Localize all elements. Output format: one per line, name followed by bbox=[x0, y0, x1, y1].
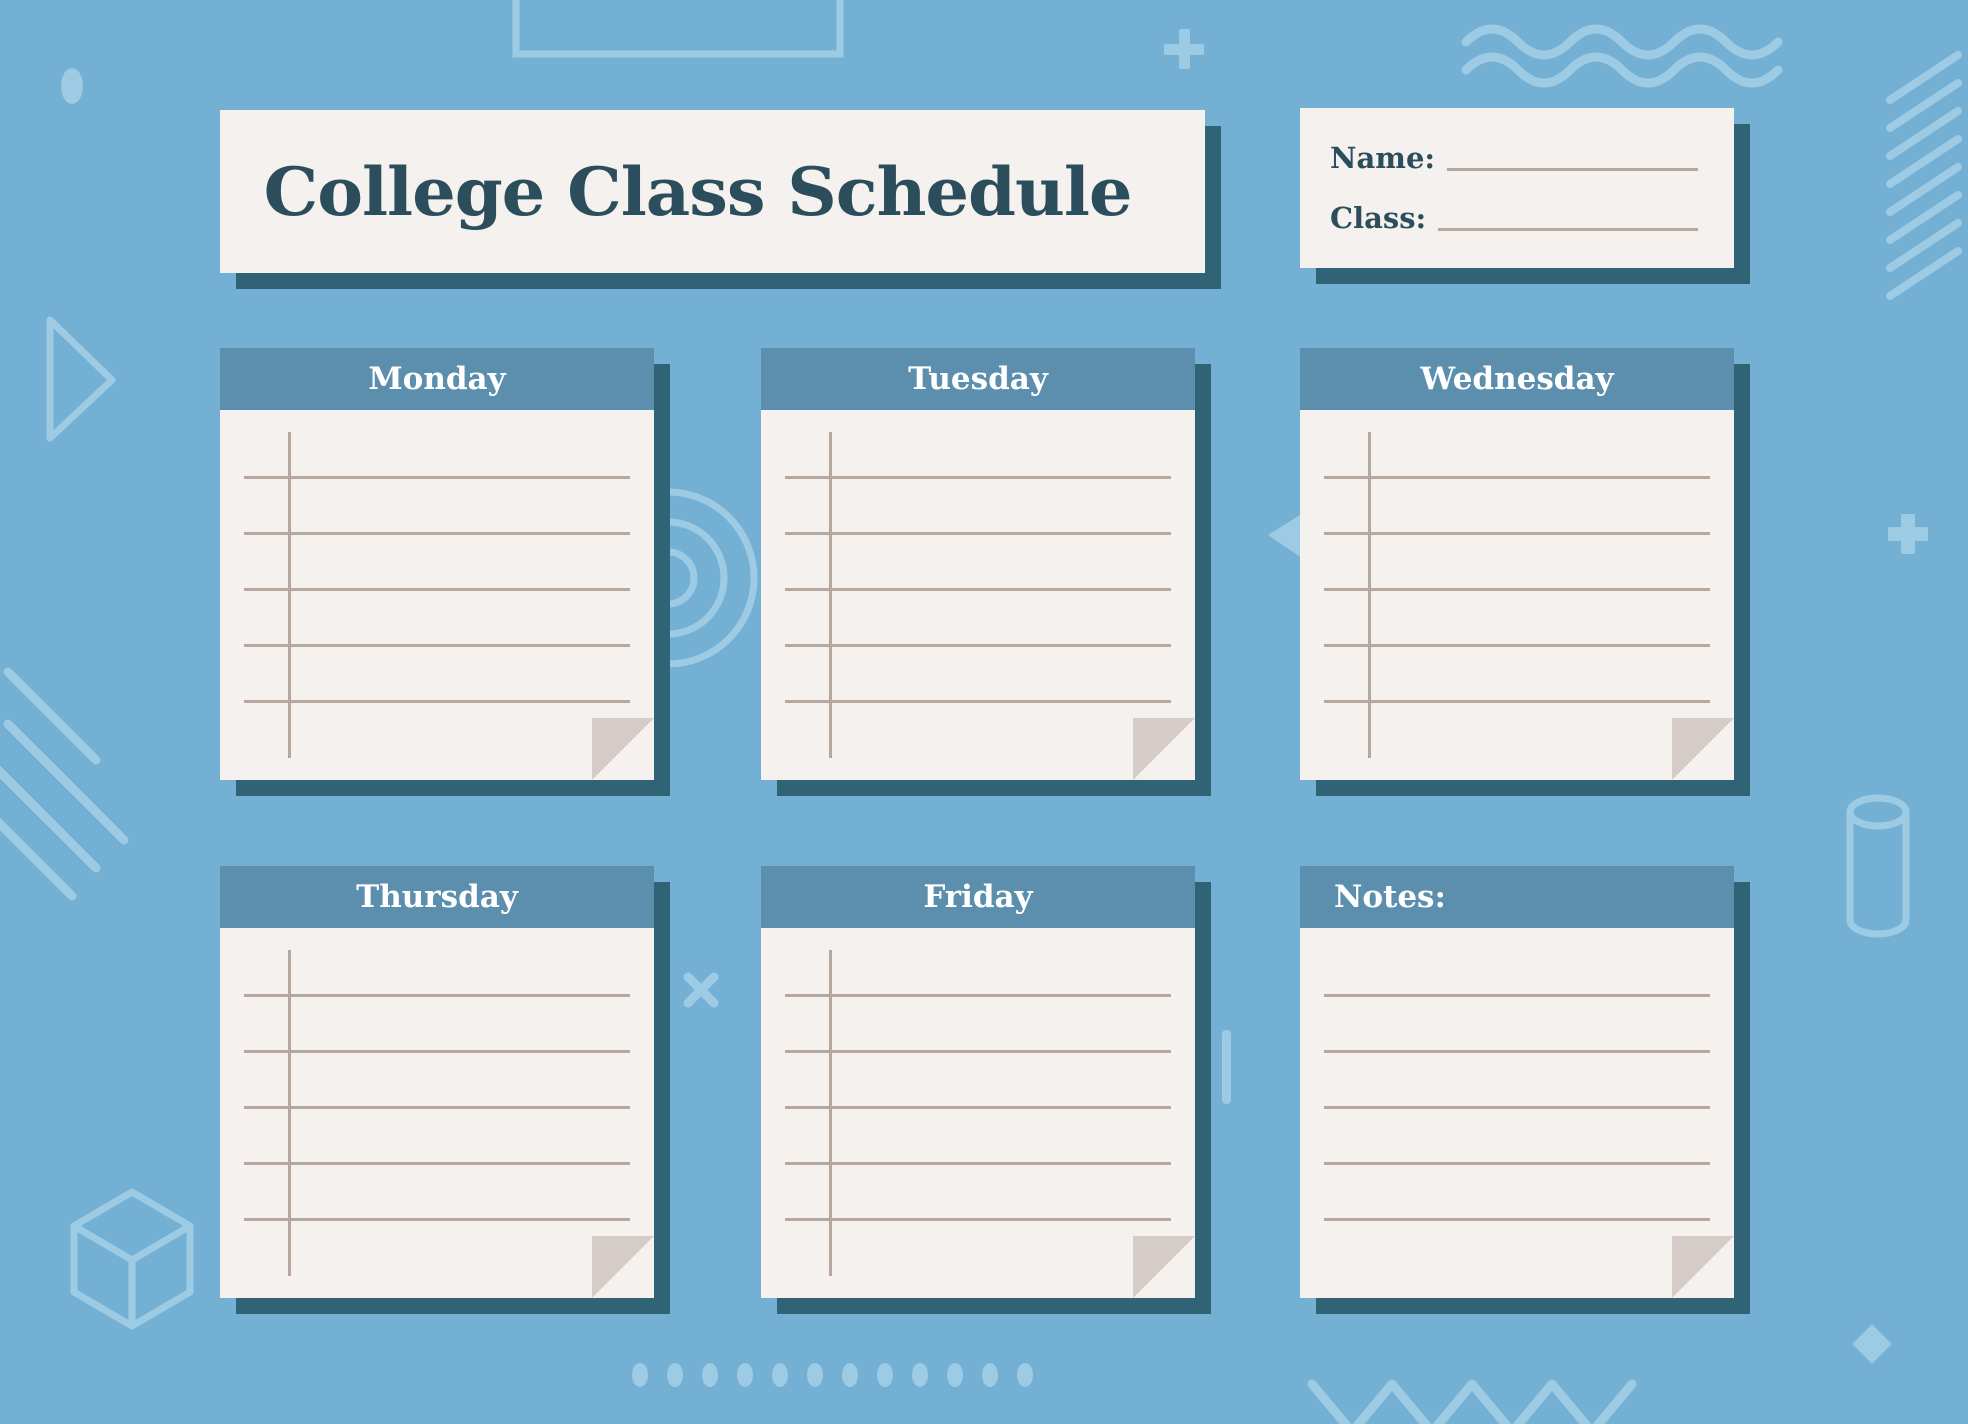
note-card-hline bbox=[1324, 1050, 1710, 1053]
note-card-hline bbox=[244, 1218, 630, 1221]
dot-grid-decoration bbox=[632, 1363, 1033, 1424]
dot-decoration bbox=[61, 68, 83, 104]
note-card-thursday: Thursday bbox=[220, 866, 654, 1298]
note-card-body[interactable] bbox=[220, 410, 654, 780]
name-field-rule[interactable] bbox=[1447, 168, 1698, 171]
note-card-hline bbox=[785, 1162, 1171, 1165]
rectangle-outline-decoration bbox=[516, 0, 840, 54]
note-card-tuesday: Tuesday bbox=[761, 348, 1195, 780]
note-card-hline bbox=[1324, 532, 1710, 535]
wavy-lines-decoration bbox=[1466, 29, 1778, 83]
note-card-hline bbox=[785, 588, 1171, 591]
note-card-hline bbox=[785, 700, 1171, 703]
note-card-rules bbox=[1300, 410, 1734, 780]
note-card-wednesday: Wednesday bbox=[1300, 348, 1734, 780]
note-card-body[interactable] bbox=[761, 928, 1195, 1298]
note-card-hline bbox=[244, 588, 630, 591]
note-card-vline bbox=[288, 432, 291, 758]
note-card-hline bbox=[785, 476, 1171, 479]
note-card-body[interactable] bbox=[761, 410, 1195, 780]
note-card-sheet: Tuesday bbox=[761, 348, 1195, 780]
note-card-title: Wednesday bbox=[1420, 361, 1613, 397]
note-card-rules bbox=[220, 928, 654, 1298]
triangle-outline-decoration bbox=[50, 320, 112, 438]
note-card-hline bbox=[1324, 588, 1710, 591]
note-card-hline bbox=[785, 1106, 1171, 1109]
note-card-hline bbox=[1324, 994, 1710, 997]
note-card-body[interactable] bbox=[1300, 928, 1734, 1298]
note-card-hline bbox=[244, 1106, 630, 1109]
diagonal-hatch-decoration bbox=[1890, 55, 1958, 296]
note-card-sheet: Friday bbox=[761, 866, 1195, 1298]
note-card-header: Tuesday bbox=[761, 348, 1195, 410]
page-title: College Class Schedule bbox=[220, 153, 1132, 231]
note-card-hline bbox=[1324, 1162, 1710, 1165]
note-card-rules bbox=[220, 410, 654, 780]
plus-decoration-right bbox=[1888, 514, 1928, 554]
note-card-header: Friday bbox=[761, 866, 1195, 928]
note-card-hline bbox=[244, 476, 630, 479]
note-card-hline bbox=[1324, 1106, 1710, 1109]
note-card-monday: Monday bbox=[220, 348, 654, 780]
class-field-rule[interactable] bbox=[1438, 228, 1698, 231]
note-card-hline bbox=[785, 1218, 1171, 1221]
note-card-notes: Notes: bbox=[1300, 866, 1734, 1298]
title-card-sheet: College Class Schedule bbox=[220, 110, 1205, 273]
note-card-title: Thursday bbox=[356, 879, 518, 915]
note-card-hline bbox=[1324, 644, 1710, 647]
name-field-label: Name: bbox=[1330, 141, 1435, 175]
note-card-body[interactable] bbox=[220, 928, 654, 1298]
note-card-hline bbox=[244, 700, 630, 703]
diagonal-stripes-decoration bbox=[0, 672, 124, 896]
note-card-header: Wednesday bbox=[1300, 348, 1734, 410]
info-card: Name: Class: bbox=[1300, 108, 1734, 268]
note-card-hline bbox=[1324, 1218, 1710, 1221]
note-card-header: Monday bbox=[220, 348, 654, 410]
note-card-header: Notes: bbox=[1300, 866, 1734, 928]
cube-wireframe-decoration bbox=[74, 1192, 190, 1326]
note-card-title: Friday bbox=[923, 879, 1032, 915]
note-card-friday: Friday bbox=[761, 866, 1195, 1298]
note-card-sheet: Wednesday bbox=[1300, 348, 1734, 780]
note-card-rules bbox=[761, 928, 1195, 1298]
note-card-hline bbox=[1324, 476, 1710, 479]
name-field-row[interactable]: Name: bbox=[1330, 141, 1698, 175]
note-card-title: Monday bbox=[368, 361, 505, 397]
class-field-label: Class: bbox=[1330, 201, 1426, 235]
note-card-hline bbox=[244, 532, 630, 535]
note-card-hline bbox=[244, 994, 630, 997]
note-card-rules bbox=[761, 410, 1195, 780]
vertical-bar-decoration bbox=[1222, 1030, 1231, 1104]
note-card-title: Notes: bbox=[1334, 879, 1446, 915]
cylinder-wireframe-decoration bbox=[1850, 798, 1906, 934]
note-card-title: Tuesday bbox=[908, 361, 1048, 397]
note-card-hline bbox=[244, 1162, 630, 1165]
note-card-vline bbox=[829, 950, 832, 1276]
note-card-vline bbox=[288, 950, 291, 1276]
note-card-hline bbox=[1324, 700, 1710, 703]
note-card-header: Thursday bbox=[220, 866, 654, 928]
concentric-arcs-decoration bbox=[668, 492, 754, 664]
note-card-hline bbox=[785, 532, 1171, 535]
class-field-row[interactable]: Class: bbox=[1330, 201, 1698, 235]
note-card-sheet: Notes: bbox=[1300, 866, 1734, 1298]
note-card-vline bbox=[829, 432, 832, 758]
note-card-sheet: Monday bbox=[220, 348, 654, 780]
plus-decoration-top bbox=[1164, 29, 1204, 69]
info-card-sheet: Name: Class: bbox=[1300, 108, 1734, 268]
diamond-decoration bbox=[1852, 1324, 1892, 1364]
note-card-body[interactable] bbox=[1300, 410, 1734, 780]
note-card-hline bbox=[244, 644, 630, 647]
zigzag-decoration bbox=[1312, 1384, 1632, 1424]
note-card-sheet: Thursday bbox=[220, 866, 654, 1298]
note-card-rules bbox=[1300, 928, 1734, 1298]
note-card-hline bbox=[244, 1050, 630, 1053]
x-mark-decoration bbox=[688, 977, 714, 1003]
title-card: College Class Schedule bbox=[220, 110, 1205, 273]
note-card-vline bbox=[1368, 432, 1371, 758]
note-card-hline bbox=[785, 644, 1171, 647]
note-card-hline bbox=[785, 1050, 1171, 1053]
note-card-hline bbox=[785, 994, 1171, 997]
